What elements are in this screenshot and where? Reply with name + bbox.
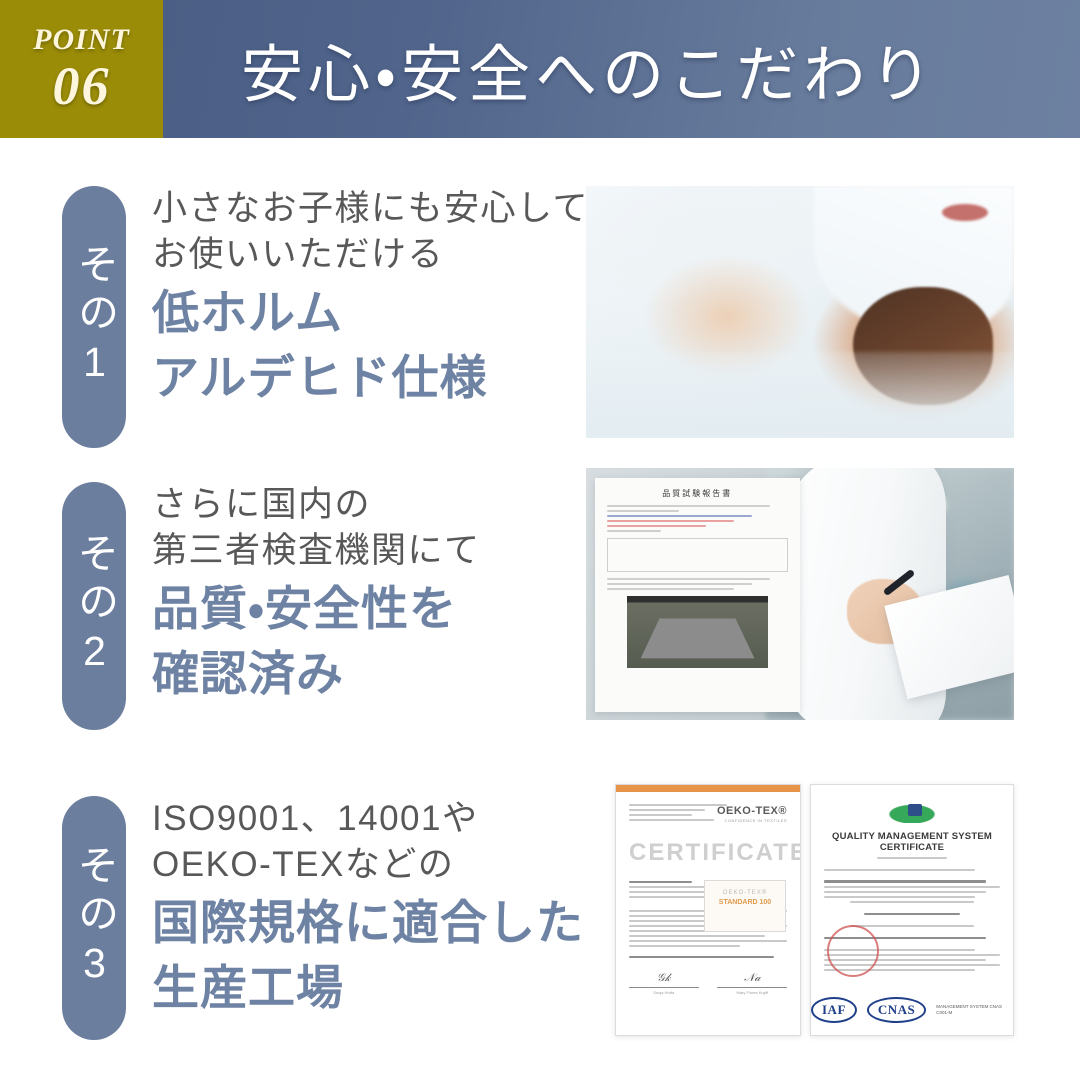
stamp-standard-text: STANDARD 100 bbox=[705, 899, 785, 906]
cnas-caption: MANAGEMENT SYSTEM CNAS C001-M bbox=[936, 1004, 1013, 1016]
cert-line bbox=[629, 814, 692, 816]
oeko-tex-certificate: OEKO-TEX® CONFIDENCE IN TEXTILES CERTIFI… bbox=[615, 784, 801, 1036]
cert-line bbox=[629, 940, 787, 942]
point-number-badge: POINT 06 bbox=[0, 0, 163, 138]
point-label: POINT bbox=[33, 25, 130, 55]
doc-line bbox=[607, 510, 680, 512]
cert-line bbox=[850, 901, 973, 903]
oeko-tex-standard-stamp: OEKO-TEX® STANDARD 100 bbox=[704, 880, 786, 932]
cert-line bbox=[824, 896, 975, 898]
accreditation-badges: IAF CNAS MANAGEMENT SYSTEM CNAS C001-M bbox=[811, 997, 1013, 1023]
cert-line bbox=[824, 891, 986, 893]
section-badge-label-3: その3 bbox=[74, 844, 115, 993]
doc-line bbox=[607, 578, 770, 580]
signature-mark: 𝒢𝓀 bbox=[629, 972, 699, 988]
oeko-tex-tagline: CONFIDENCE IN TEXTILES bbox=[725, 818, 788, 823]
signature-left: 𝒢𝓀 Sonja Hotta bbox=[629, 972, 699, 995]
test-report-document: 品質試験報告書 bbox=[595, 478, 800, 712]
doc-line bbox=[607, 505, 770, 507]
doc-line bbox=[607, 583, 752, 585]
cnas-logo: CNAS bbox=[867, 997, 926, 1023]
doc-results-table bbox=[607, 538, 788, 572]
page-header: POINT 06 安心・安全へのこだわり bbox=[0, 0, 1080, 138]
third-party-inspection-photo: 品質試験報告書 bbox=[586, 468, 1014, 720]
cert-line bbox=[629, 809, 705, 811]
cert-line bbox=[629, 945, 740, 947]
baby-blanket bbox=[586, 352, 1014, 438]
cert-line bbox=[824, 886, 1000, 888]
page-title: 安心・安全へのこだわり bbox=[241, 24, 937, 114]
signature-name: Mary Flores Krglff bbox=[717, 990, 787, 995]
signature-mark: 𝒩𝒶 bbox=[717, 972, 787, 988]
stamp-logo-text: OEKO-TEX® bbox=[705, 890, 785, 896]
cert-validity-line bbox=[629, 956, 774, 958]
header-title-bar: 安心・安全へのこだわり bbox=[163, 0, 1080, 138]
oeko-tex-logo: OEKO-TEX® bbox=[717, 805, 787, 817]
accreditation-emblem-icon bbox=[880, 801, 944, 823]
test-report-title: 品質試験報告書 bbox=[607, 488, 788, 499]
section-badge-label-2: その2 bbox=[74, 532, 115, 681]
section-badge-2: その2 bbox=[62, 482, 126, 730]
section-badge-1: その1 bbox=[62, 186, 126, 448]
doc-sample-image bbox=[627, 596, 769, 668]
doc-line bbox=[607, 530, 661, 532]
sleeping-baby-photo bbox=[586, 186, 1014, 438]
qms-registration-line bbox=[877, 857, 947, 859]
cert-company-label bbox=[629, 881, 692, 883]
infographic-page: POINT 06 安心・安全へのこだわり その1 小さなお子様にも安心して お使… bbox=[0, 0, 1080, 1080]
cert-line bbox=[629, 819, 714, 821]
qms-certificate-heading: QUALITY MANAGEMENT SYSTEM CERTIFICATE bbox=[824, 831, 1000, 853]
doc-line bbox=[607, 588, 734, 590]
cert-line bbox=[629, 804, 727, 806]
doc-line bbox=[607, 525, 707, 527]
certificate-heading: CERTIFICATE bbox=[629, 839, 787, 867]
qms-company-line bbox=[824, 880, 986, 883]
certificate-top-bar bbox=[616, 785, 800, 792]
iaf-logo: IAF bbox=[811, 997, 857, 1023]
mother-lips bbox=[942, 204, 988, 221]
qms-standard-line bbox=[864, 913, 959, 915]
cert-line bbox=[824, 869, 975, 871]
cert-line bbox=[850, 925, 973, 927]
signature-right: 𝒩𝒶 Mary Flores Krglff bbox=[717, 972, 787, 995]
cert-line bbox=[629, 935, 765, 937]
section-badge-3: その3 bbox=[62, 796, 126, 1040]
doc-line bbox=[607, 520, 734, 522]
doc-line bbox=[607, 515, 752, 517]
section-badge-label-1: その1 bbox=[74, 243, 115, 392]
signature-name: Sonja Hotta bbox=[629, 990, 699, 995]
issuer-red-seal bbox=[827, 925, 879, 977]
point-number: 06 bbox=[53, 59, 111, 113]
quality-management-system-certificate: QUALITY MANAGEMENT SYSTEM CERTIFICATE IA… bbox=[810, 784, 1014, 1036]
certificate-signatures: 𝒢𝓀 Sonja Hotta 𝒩𝒶 Mary Flores Krglff bbox=[629, 972, 787, 995]
